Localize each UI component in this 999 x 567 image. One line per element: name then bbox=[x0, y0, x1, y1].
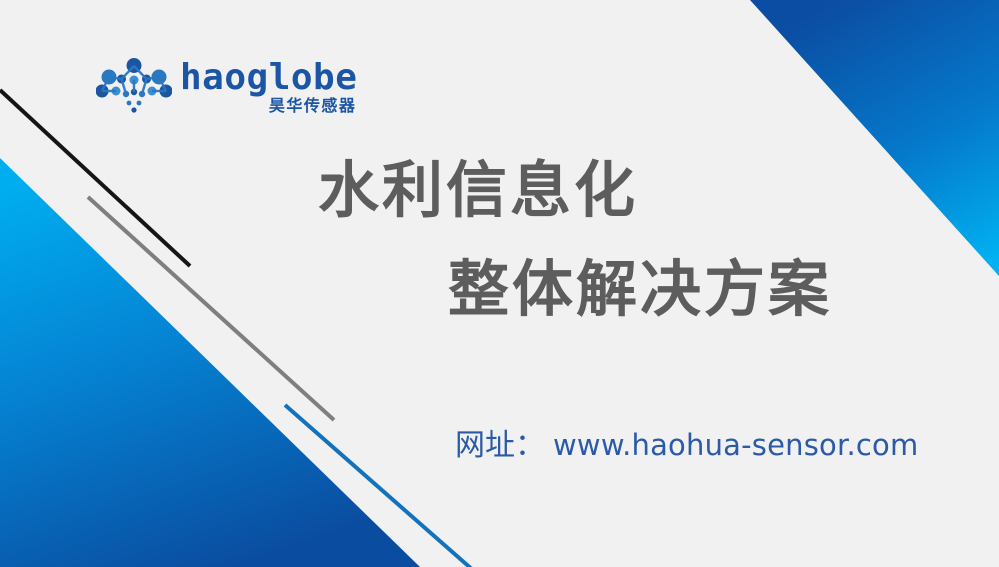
website-url[interactable]: www.haohua-sensor.com bbox=[553, 428, 918, 462]
website-line: 网址： www.haohua-sensor.com bbox=[455, 420, 918, 464]
logo-text-group: haoglobe 昊华传感器 bbox=[180, 60, 357, 115]
company-logo: haoglobe 昊华传感器 bbox=[96, 58, 357, 116]
title-line-1: 水利信息化 bbox=[318, 160, 999, 221]
logo-wordmark: haoglobe bbox=[180, 60, 357, 97]
slide-title: 水利信息化 整体解决方案 bbox=[0, 160, 999, 320]
title-line-2: 整体解决方案 bbox=[448, 259, 999, 320]
logo-chinese-name: 昊华传感器 bbox=[269, 98, 357, 114]
website-label: 网址： bbox=[455, 420, 545, 464]
presentation-slide: haoglobe 昊华传感器 水利信息化 整体解决方案 网址： www.haoh… bbox=[0, 0, 999, 567]
network-nodes-icon bbox=[96, 58, 172, 116]
